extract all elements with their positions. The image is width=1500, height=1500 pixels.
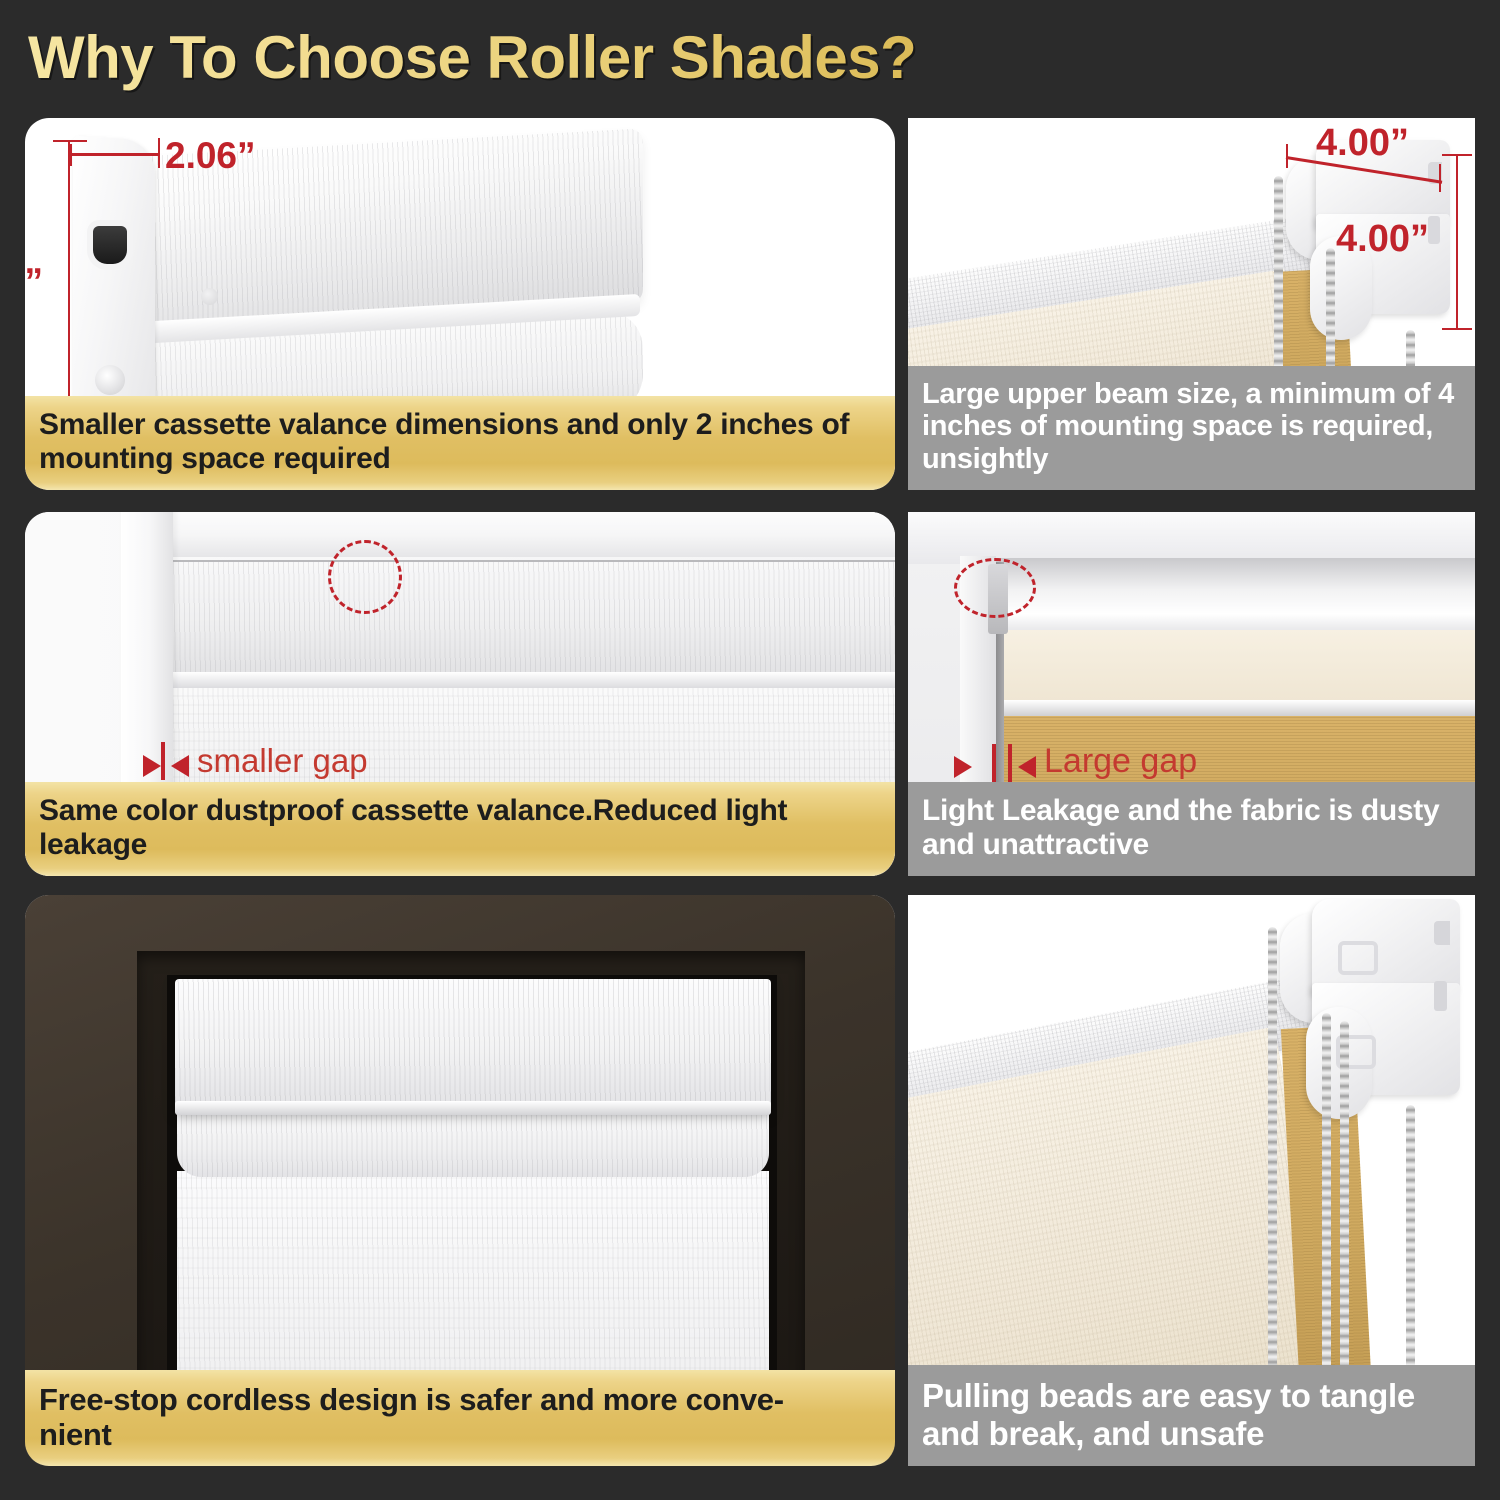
dim-tick-height-top [53,140,87,142]
panel-pro-smaller-gap: smaller gap Same color dustproof cassett… [25,512,895,876]
gap-marker-line-a [992,744,996,782]
dimension-label-width: 2.06” [165,135,256,177]
head-rail-bottom-edge [998,700,1475,716]
bracket-emboss-upper-icon [1338,941,1378,975]
highlight-circle-gap [954,558,1036,618]
cassette-end-cap-slot [93,226,127,264]
caption-line-2: and break, and unsafe [922,1415,1461,1452]
caption-con-light-leakage: Light Leakage and the fabric is dusty an… [908,782,1475,876]
caption-pro-cassette-size: Smaller cassette valance dimensions and … [25,396,895,490]
caption-line-2: nient [39,1417,881,1452]
caption-con-beads: Pulling beads are easy to tangle and bre… [908,1365,1475,1466]
shade-roll [177,1107,769,1177]
dim-tick-width-right [158,138,160,168]
bead-chain-mid [1322,1013,1331,1369]
bead-chain-right [1406,1105,1415,1369]
gap-label-smaller: smaller gap [197,742,368,780]
gap-marker-line-b [1008,744,1012,782]
panel-pro-cordless: Free-stop cordless design is safer and m… [25,895,895,1466]
caption-line-1: Pulling beads are easy to tangle [922,1377,1461,1414]
dim-line-beam-height [1456,154,1458,330]
caption-pro-cordless: Free-stop cordless design is safer and m… [25,1370,895,1466]
caption-pro-smaller-gap: Same color dustproof cassette valance.Re… [25,782,895,876]
highlight-circle-gap [328,540,402,614]
dimension-label-beam-height: 4.00” [1336,218,1429,261]
cassette-end-cap-screw-lower [95,365,125,395]
cassette-valance-groove [175,1101,771,1115]
dimension-label-height: 5.49” [25,261,43,303]
bracket-slot-upper [1434,921,1450,945]
panel-con-beam-size: 4.00” 4.00” Large upper beam size, a min… [908,118,1475,490]
panel-con-light-leakage: Large gap Light Leakage and the fabric i… [908,512,1475,876]
page-title: Why To Choose Roller Shades? [28,18,1328,98]
gap-arrow-left-icon [143,755,161,777]
cassette-valance [175,979,771,1111]
cream-fabric-band [1000,630,1475,702]
dim-tick-beam-width-right [1439,164,1441,192]
cassette-valance-lip [165,672,895,688]
gap-label-large: Large gap [1044,742,1197,781]
cassette-end-cap-screw-upper [201,288,218,305]
cassette-valance [165,560,895,675]
gap-arrow-left-icon [954,756,972,778]
gap-arrow-right-icon [171,755,189,777]
bracket-slot-mid [1428,216,1440,244]
gap-marker-line [161,742,165,780]
caption-con-beam-size: Large upper beam size, a minimum of 4 in… [908,366,1475,490]
gap-arrow-right-icon [1018,756,1036,778]
head-rail [992,558,1475,638]
infographic-root: Why To Choose Roller Shades? 2.06” 5.49”… [0,0,1500,1500]
dim-line-width [70,153,160,156]
dim-tick-beam-height-bottom [1442,328,1472,330]
bead-chain-left [1268,927,1277,1369]
bracket-slot-mid [1434,981,1447,1011]
dim-line-height [68,140,70,428]
panel-pro-cassette-size: 2.06” 5.49” Smaller cassette valance dim… [25,118,895,490]
caption-line-1: Free-stop cordless design is safer and m… [39,1382,881,1417]
dim-tick-beam-height-top [1442,154,1472,156]
window-frame-top [121,512,895,557]
bead-chain-mid2 [1340,1021,1349,1369]
panel-con-beads: Pulling beads are easy to tangle and bre… [908,895,1475,1466]
dimension-label-beam-width: 4.00” [1316,122,1409,165]
